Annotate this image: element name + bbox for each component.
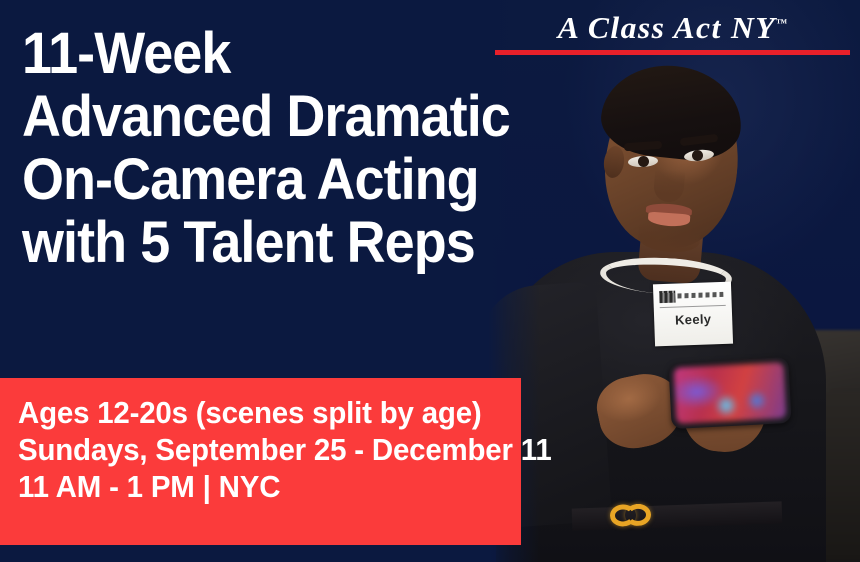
name-tag-name: Keely [654, 312, 732, 328]
promotional-poster: Keely A Class Act NY™ 11-Week Advanced D… [0, 0, 860, 562]
subject-pupil-left [638, 156, 649, 167]
name-tag-logo-text [677, 292, 723, 299]
details-line-ages: Ages 12-20s (scenes split by age) [18, 394, 496, 431]
headline: 11-Week Advanced Dramatic On-Camera Acti… [22, 22, 522, 274]
brand-logo-name: A Class Act NY [558, 10, 776, 45]
subject-photo: Keely [488, 0, 860, 562]
name-tag: Keely [653, 282, 733, 347]
brand-logo-text: A Class Act NY™ [491, 12, 853, 43]
details-line-time-location: 11 AM - 1 PM | NYC [18, 468, 496, 505]
name-tag-divider [660, 305, 726, 308]
trademark-icon: ™ [776, 18, 787, 30]
smartphone-screen [674, 362, 787, 424]
headline-line-3: On-Camera Acting [22, 148, 487, 211]
brand-logo-rule [495, 50, 850, 55]
details-line-dates: Sundays, September 25 - December 11 [18, 431, 496, 468]
headline-line-1: 11-Week [22, 22, 487, 85]
belt-buckle-icon [610, 501, 663, 529]
smartphone [668, 357, 791, 429]
subject-pupil-right [692, 150, 703, 161]
name-tag-logo-icon [659, 291, 675, 304]
buckle-ring-right [625, 503, 652, 526]
headline-line-4: with 5 Talent Reps [22, 211, 487, 274]
headline-line-2: Advanced Dramatic [22, 85, 487, 148]
brand-logo: A Class Act NY™ [495, 12, 850, 55]
details-banner: Ages 12-20s (scenes split by age) Sunday… [0, 378, 521, 545]
